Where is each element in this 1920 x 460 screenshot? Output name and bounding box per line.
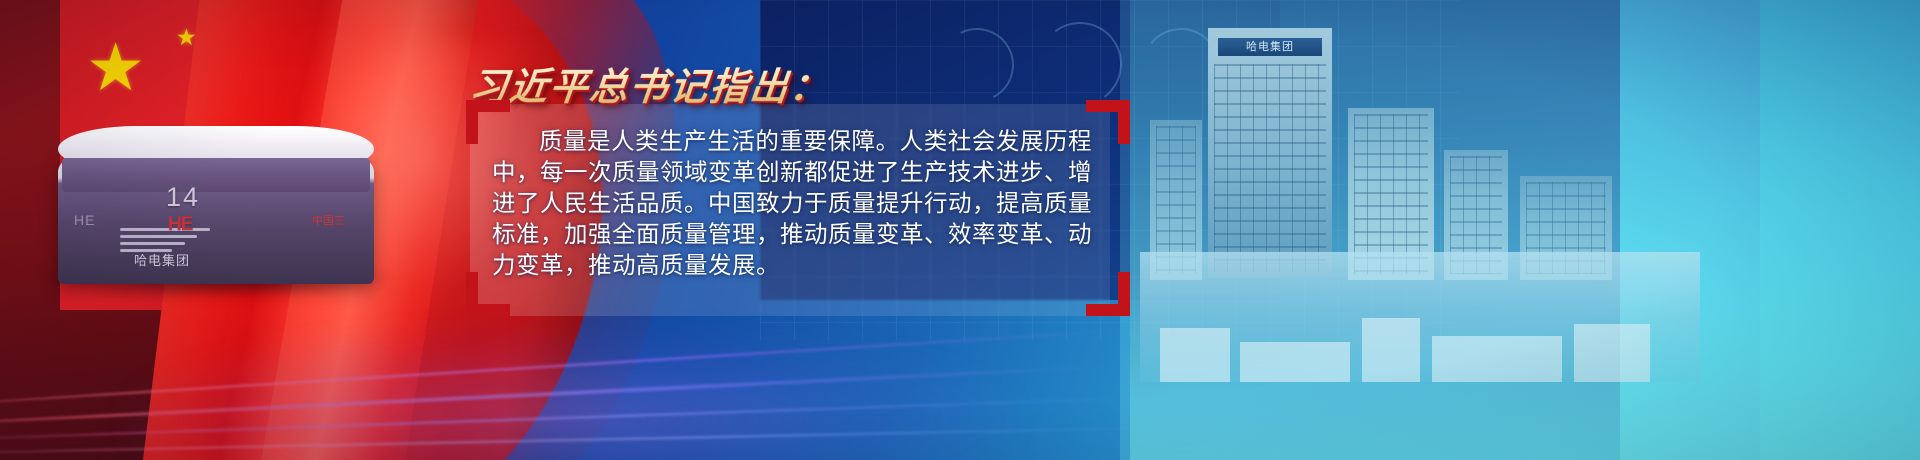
window-grid: [1214, 64, 1326, 272]
corner-bracket-top-right: [1086, 100, 1130, 144]
bottom-glow: [120, 320, 1020, 460]
partner-mark: 中国三: [312, 212, 345, 228]
corner-bracket-bottom-left: [466, 272, 510, 316]
corner-bracket-top-left: [466, 100, 510, 144]
ring-arc-icon: [930, 18, 1023, 111]
window-grid: [1354, 114, 1428, 274]
machine-left-mark: HE: [74, 212, 95, 228]
quote-title: 习近平总书记指出：: [467, 56, 833, 111]
quote-body-text: 质量是人类生产生活的重要保障。人类社会发展历程中，每一次质量领域变革创新都促进了…: [492, 126, 1092, 281]
tower-sign-label: 哈电集团: [1218, 38, 1322, 56]
ring-arc-icon: [1033, 17, 1128, 112]
hero-banner: 哈电集团 ★ ★ ★ ★ ★ 14 HE HE 哈电集团 中国三: [0, 0, 1920, 460]
flag-star-large-icon: ★: [86, 34, 145, 100]
brand-mark-he: HE: [168, 214, 192, 236]
building-main-tower: 哈电集团: [1208, 28, 1332, 278]
unit-number-label: 14: [166, 182, 256, 213]
corner-bracket-bottom-right: [1086, 272, 1130, 316]
